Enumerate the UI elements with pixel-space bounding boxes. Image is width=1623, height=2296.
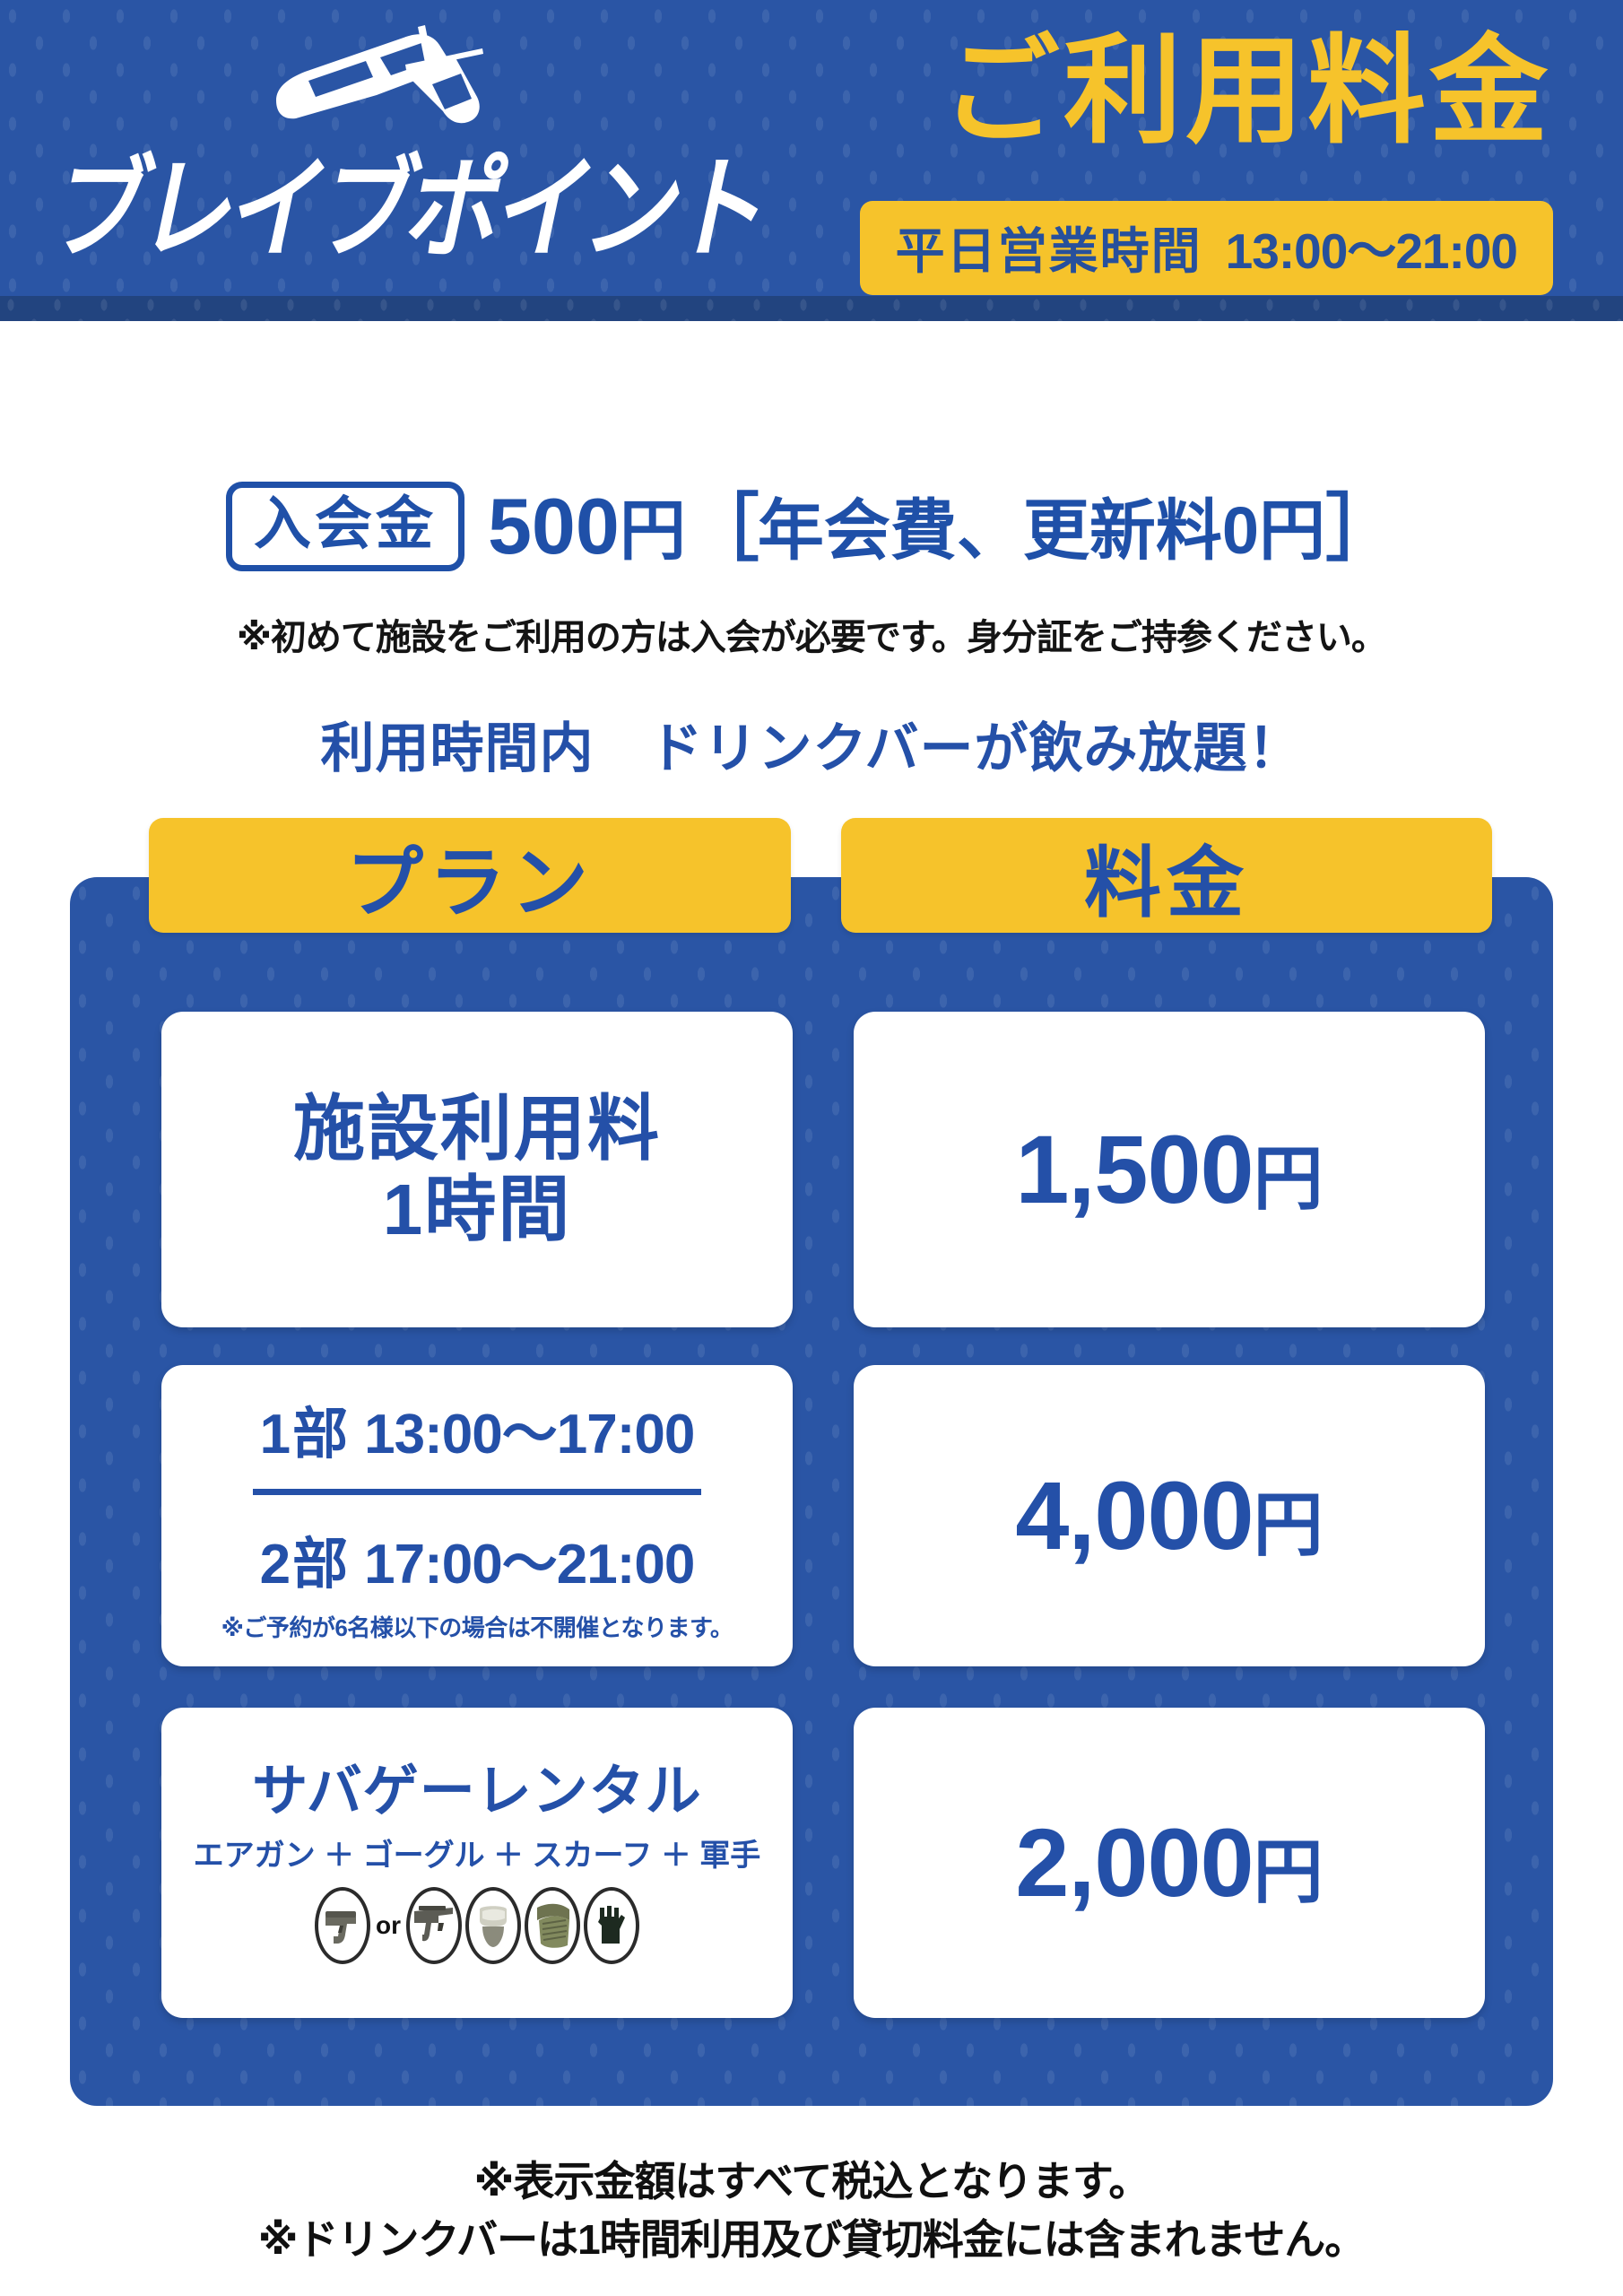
pistol-icon (315, 1887, 370, 1964)
membership-note: ※初めて施設をご利用の方は入会が必要です。身分証をご持参ください。 (0, 608, 1623, 660)
scarf-icon (525, 1887, 580, 1964)
price-value: 4,000円 (1015, 1467, 1323, 1564)
membership-price: 500円［年会費、更新料0円］ (488, 487, 1397, 566)
price-amount: 1,500 (1015, 1115, 1253, 1223)
membership-tag: 入会金 (226, 482, 464, 571)
session-2-label: 2部 (260, 1534, 350, 1596)
bracket-open: ［ (686, 488, 758, 570)
hours-value: 13:00〜21:00 (1226, 223, 1517, 279)
session-2-time: 17:00〜21:00 (364, 1534, 694, 1596)
footer-note-1: ※表示金額はすべて税込となります。 (0, 2152, 1623, 2211)
header-bottom-stripe (0, 296, 1623, 321)
footer-note-2: ※ドリンクバーは1時間利用及び貸切料金には含まれません。 (0, 2211, 1623, 2269)
session-2: 2部17:00〜21:00 (260, 1518, 695, 1599)
table-header-plan: プラン (149, 818, 791, 933)
poster-header: ブレイブポイント ご利用料金 平日営業時間13:00〜21:00 (0, 0, 1623, 321)
footer-notes: ※表示金額はすべて税込となります。 ※ドリンクバーは1時間利用及び貸切料金には含… (0, 2152, 1623, 2270)
hours-label: 平日営業時間 (896, 223, 1202, 279)
membership-yen: 円 (620, 493, 686, 568)
table-row: サバゲーレンタル エアガン ＋ ゴーグル ＋ スカーフ ＋ 軍手 or (161, 1708, 793, 2018)
table-row: 4,000円 (854, 1365, 1485, 1666)
price-yen: 円 (1254, 1485, 1324, 1564)
price-value: 2,000円 (1015, 1814, 1323, 1911)
table-row: 2,000円 (854, 1708, 1485, 2018)
business-hours-banner: 平日営業時間13:00〜21:00 (860, 201, 1553, 295)
session-divider (253, 1489, 701, 1495)
price-value: 1,500円 (1015, 1121, 1323, 1218)
session-1: 1部13:00〜17:00 (260, 1388, 695, 1469)
glove-icon (584, 1887, 639, 1964)
membership-fee-row: 入会金 500円［年会費、更新料0円］ (0, 482, 1623, 571)
drink-bar-line: 利用時間内 ドリンクバーが飲み放題！ (0, 705, 1623, 783)
membership-bracket-text: 年会費、更新料0円 (758, 493, 1325, 568)
table-row: 1部13:00〜17:00 2部17:00〜21:00 ※ご予約が6名様以下の場… (161, 1365, 793, 1666)
table-row: 1,500円 (854, 1012, 1485, 1327)
pricing-poster: ブレイブポイント ご利用料金 平日営業時間13:00〜21:00 入会金 500… (0, 0, 1623, 2296)
rental-icon-strip: or (315, 1887, 639, 1964)
rental-items: エアガン ＋ ゴーグル ＋ スカーフ ＋ 軍手 (194, 1831, 761, 1874)
session-note: ※ご予約が6名様以下の場合は不開催となります。 (221, 1610, 733, 1643)
price-yen: 円 (1254, 1139, 1324, 1218)
plan-line-1: 施設利用料 (293, 1089, 661, 1170)
price-amount: 4,000 (1015, 1461, 1253, 1570)
rental-title: サバゲーレンタル (252, 1761, 702, 1822)
session-1-time: 13:00〜17:00 (364, 1404, 694, 1465)
brand-logo: ブレイブポイント (47, 20, 728, 271)
price-amount: 2,000 (1015, 1808, 1253, 1917)
mask-icon (465, 1887, 521, 1964)
plan-line-2: 1時間 (383, 1170, 572, 1250)
rifle-icon (406, 1887, 462, 1964)
price-yen: 円 (1254, 1832, 1324, 1911)
membership-amount: 500 (488, 482, 620, 570)
page-title: ご利用料金 (942, 25, 1551, 158)
brand-wordmark: ブレイブポイント (47, 154, 746, 265)
bracket-close: ］ (1325, 488, 1397, 570)
table-header-price: 料金 (841, 818, 1492, 933)
train-icon (269, 25, 484, 131)
table-row: 施設利用料 1時間 (161, 1012, 793, 1327)
or-label: or (376, 1911, 401, 1940)
session-1-label: 1部 (260, 1404, 350, 1465)
